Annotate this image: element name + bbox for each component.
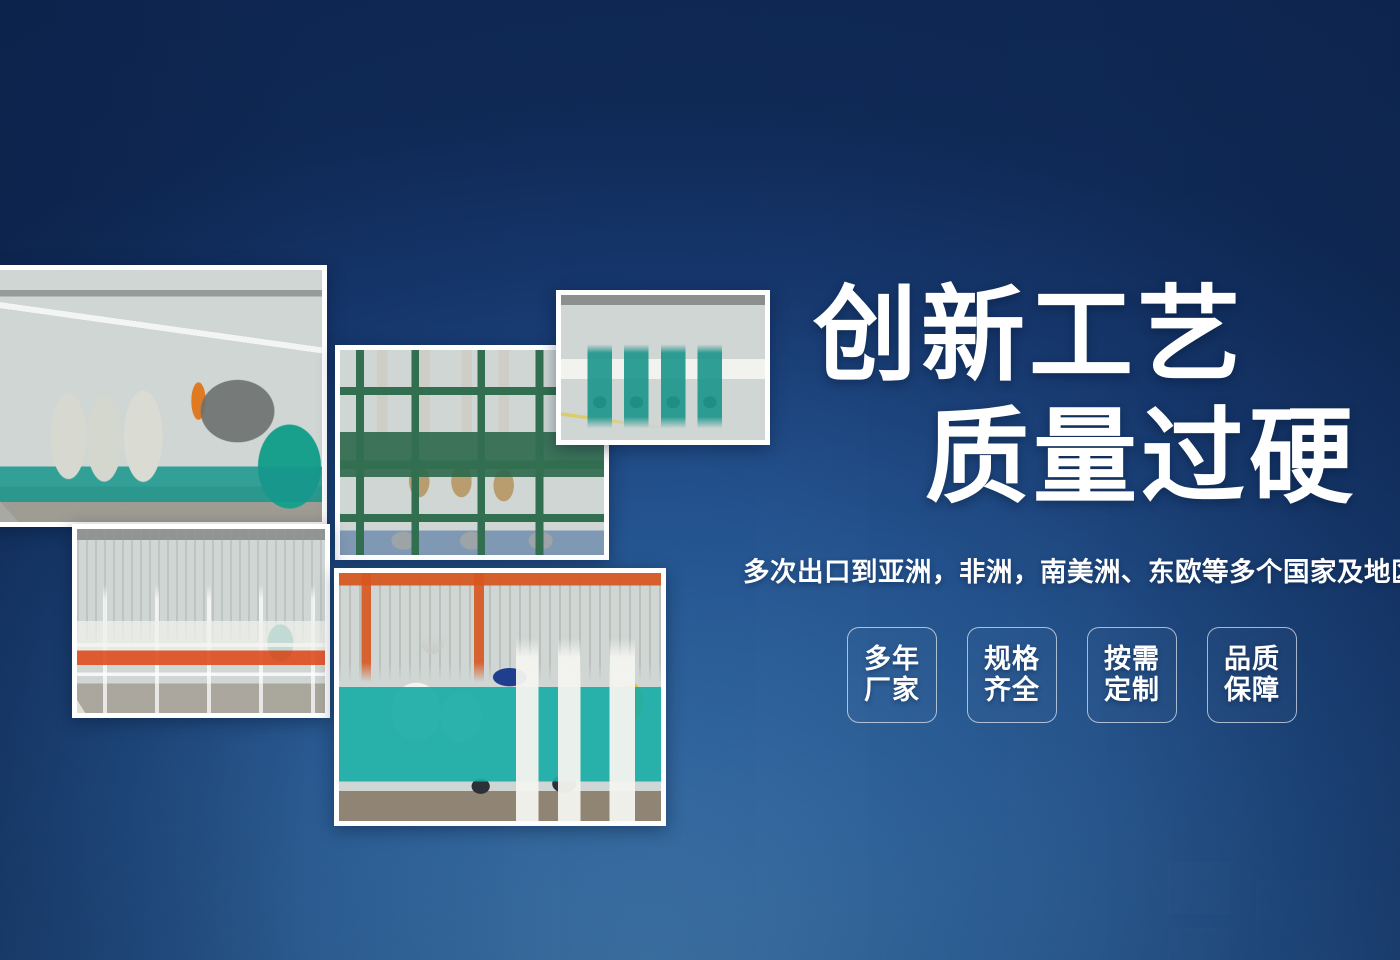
photo-card-white-mill-line[interactable] [0,265,327,527]
banner-copy: 创新工艺 质量过硬 多次出口到亚洲，非洲，南美洲、东欧等多个国家及地区 多年 厂… [735,280,1395,723]
feature-badge-list: 多年 厂家 规格 齐全 按需 定制 品质 保障 [735,627,1395,723]
badge-full-specifications[interactable]: 规格 齐全 [967,627,1057,723]
photo-card-cyan-mill-set[interactable] [334,568,666,826]
badge-quality-assurance[interactable]: 品质 保障 [1207,627,1297,723]
headline-line-2: 质量过硬 [735,402,1395,514]
badge-label-line-1: 按需 [1104,644,1160,675]
badge-label-line-1: 多年 [864,644,920,675]
badge-label-line-2: 保障 [1224,675,1280,706]
badge-label-line-1: 规格 [984,644,1040,675]
headline-line-1: 创新工艺 [735,280,1395,392]
promo-banner: 创新工艺 质量过硬 多次出口到亚洲，非洲，南美洲、东欧等多个国家及地区 多年 厂… [0,0,1400,960]
photo-orange-conveyor [77,529,325,713]
badge-label-line-2: 厂家 [864,675,920,706]
badge-years-manufacturer[interactable]: 多年 厂家 [847,627,937,723]
photo-white-mill-line [0,270,322,522]
badge-label-line-1: 品质 [1224,644,1280,675]
banner-subtitle: 多次出口到亚洲，非洲，南美洲、东欧等多个国家及地区 [735,555,1395,589]
badge-label-line-2: 定制 [1104,675,1160,706]
badge-custom-made[interactable]: 按需 定制 [1087,627,1177,723]
banner-headline: 创新工艺 质量过硬 [735,280,1395,515]
badge-label-line-2: 齐全 [984,675,1040,706]
photo-card-orange-conveyor[interactable] [72,524,330,718]
photo-cyan-mill-set [339,573,661,821]
